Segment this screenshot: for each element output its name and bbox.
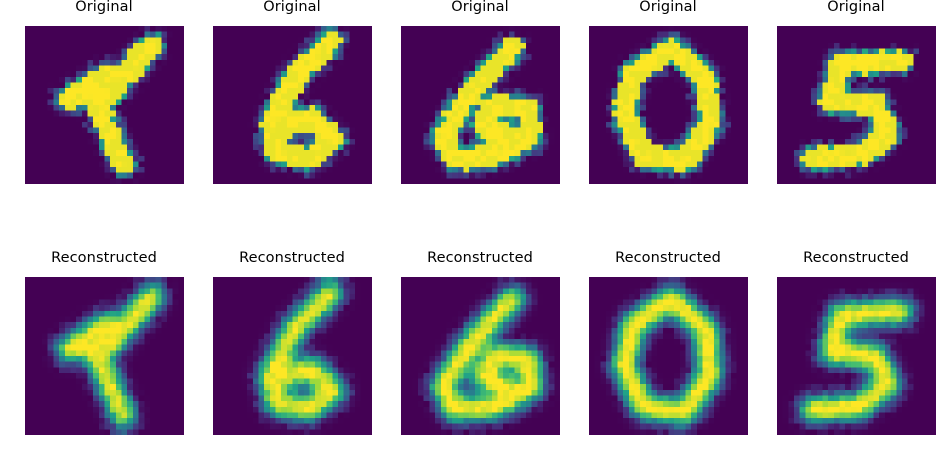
digit-image xyxy=(401,26,560,184)
panel-title: Reconstructed xyxy=(803,251,909,268)
panel-reconstructed-3: Reconstructed xyxy=(574,251,762,435)
digit-image xyxy=(589,277,748,435)
digit-pixel-grid xyxy=(589,26,748,184)
panel-title: Reconstructed xyxy=(615,251,721,268)
panel-original-0: Original xyxy=(10,0,198,184)
digit-pixel-grid xyxy=(213,26,372,184)
panel-reconstructed-0: Reconstructed xyxy=(10,251,198,435)
digit-image xyxy=(213,277,372,435)
panel-original-2: Original xyxy=(386,0,574,184)
panel-original-3: Original xyxy=(574,0,762,184)
panel-reconstructed-2: Reconstructed xyxy=(386,251,574,435)
digit-pixel-grid xyxy=(401,26,560,184)
panel-reconstructed-4: Reconstructed xyxy=(762,251,950,435)
panel-title: Original xyxy=(639,0,697,17)
digit-image xyxy=(777,26,936,184)
panel-title: Reconstructed xyxy=(427,251,533,268)
digit-pixel-grid xyxy=(25,26,184,184)
panel-title: Reconstructed xyxy=(51,251,157,268)
digit-image xyxy=(777,277,936,435)
digit-image xyxy=(401,277,560,435)
digit-image xyxy=(25,277,184,435)
digit-image xyxy=(589,26,748,184)
digit-pixel-grid xyxy=(589,277,748,435)
panel-title: Original xyxy=(827,0,885,17)
digit-image xyxy=(25,26,184,184)
panel-title: Original xyxy=(263,0,321,17)
digit-pixel-grid xyxy=(25,277,184,435)
digit-pixel-grid xyxy=(213,277,372,435)
digit-pixel-grid xyxy=(401,277,560,435)
panel-title: Reconstructed xyxy=(239,251,345,268)
figure-canvas: Original Original Original Original Orig… xyxy=(0,0,950,454)
panel-reconstructed-1: Reconstructed xyxy=(198,251,386,435)
panel-title: Original xyxy=(75,0,133,17)
digit-pixel-grid xyxy=(777,277,936,435)
row-originals: Original Original Original Original Orig… xyxy=(0,0,950,184)
row-reconstructed: Reconstructed Reconstructed Reconstructe… xyxy=(0,251,950,435)
panel-title: Original xyxy=(451,0,509,17)
panel-original-1: Original xyxy=(198,0,386,184)
panel-original-4: Original xyxy=(762,0,950,184)
digit-image xyxy=(213,26,372,184)
digit-pixel-grid xyxy=(777,26,936,184)
